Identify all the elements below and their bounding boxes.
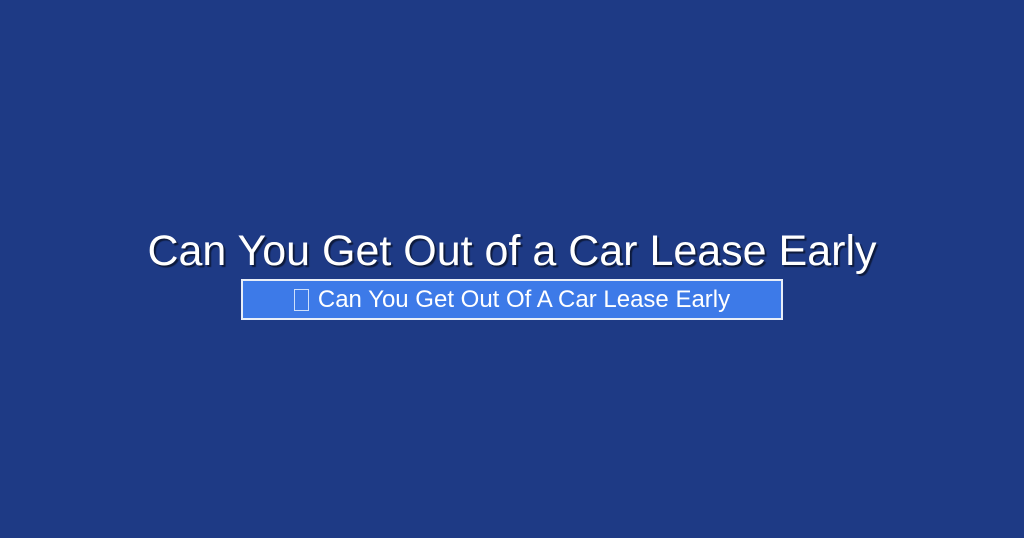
page-title: Can You Get Out of a Car Lease Early [0, 225, 1024, 277]
cta-container: Can You Get Out Of A Car Lease Early [241, 279, 783, 320]
cta-button-label: Can You Get Out Of A Car Lease Early [318, 285, 730, 315]
cta-button[interactable]: Can You Get Out Of A Car Lease Early [241, 279, 783, 320]
page-root: Can You Get Out of a Car Lease Early Can… [0, 0, 1024, 538]
missing-glyph-box-icon [294, 289, 309, 311]
